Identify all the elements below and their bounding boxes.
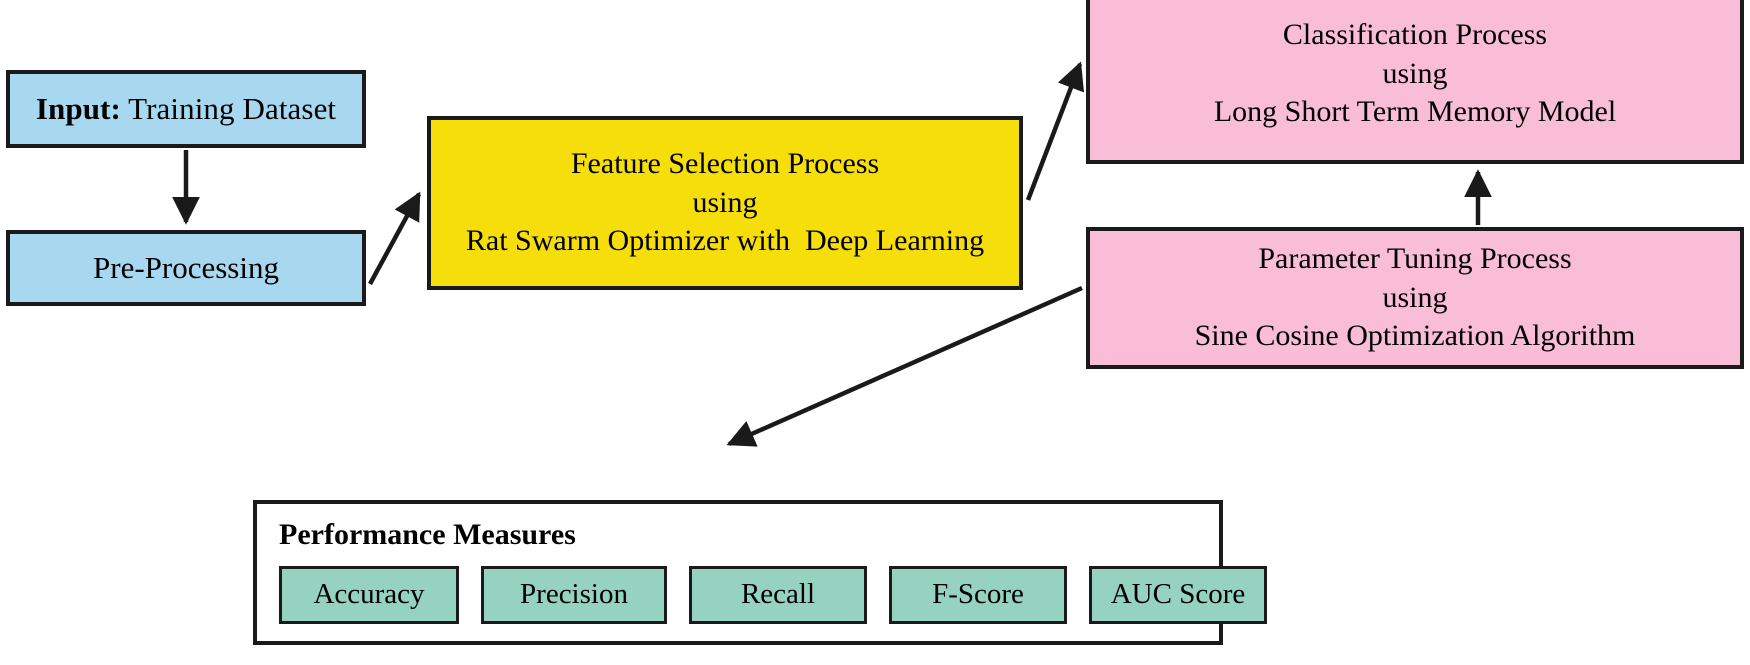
flowchart-canvas: Input: Training Dataset Pre-Processing F… [0,0,1750,665]
node-feature-selection-line3: Rat Swarm Optimizer with Deep Learning [466,222,984,260]
metric-chip-f-score-label: F-Score [932,576,1024,613]
metric-chip-recall[interactable]: Recall [689,566,867,624]
node-parameter-tuning-line1: Parameter Tuning Process [1258,240,1571,278]
metric-chip-auc-score-label: AUC Score [1111,576,1246,613]
edge-parameter-to-performance [729,288,1082,444]
node-parameter-tuning-line3: Sine Cosine Optimization Algorithm [1195,317,1636,355]
metric-chip-precision-label: Precision [520,576,628,613]
node-pre-processing[interactable]: Pre-Processing [6,230,366,306]
node-feature-selection[interactable]: Feature Selection Process using Rat Swar… [427,116,1023,290]
node-feature-selection-line2: using [692,184,757,222]
edge-feature-to-classification [1028,64,1080,200]
node-classification-line1: Classification Process [1283,16,1547,54]
performance-measures-title: Performance Measures [279,516,576,554]
metric-chip-f-score[interactable]: F-Score [889,566,1067,624]
metric-chip-precision[interactable]: Precision [481,566,667,624]
node-parameter-tuning[interactable]: Parameter Tuning Process using Sine Cosi… [1086,227,1744,369]
node-classification-line2: using [1382,55,1447,93]
node-classification-process[interactable]: Classification Process using Long Short … [1086,0,1744,164]
metric-chip-auc-score[interactable]: AUC Score [1089,566,1267,624]
node-input-label-rest: Training Dataset [121,91,336,126]
node-input-label: Input: Training Dataset [36,89,336,129]
metric-chip-accuracy-label: Accuracy [313,576,424,613]
node-input-training-dataset[interactable]: Input: Training Dataset [6,70,366,148]
node-parameter-tuning-line2: using [1382,279,1447,317]
metric-chip-recall-label: Recall [741,576,815,613]
node-feature-selection-line1: Feature Selection Process [571,145,879,183]
metric-chip-accuracy[interactable]: Accuracy [279,566,459,624]
node-performance-measures[interactable]: Performance Measures Accuracy Precision … [253,500,1223,645]
edge-preprocessing-to-feature [370,194,419,284]
node-pre-processing-label: Pre-Processing [93,248,279,288]
node-classification-line3: Long Short Term Memory Model [1214,93,1616,131]
node-input-label-bold: Input: [36,91,121,126]
performance-metric-list: Accuracy Precision Recall F-Score AUC Sc… [279,566,1267,624]
